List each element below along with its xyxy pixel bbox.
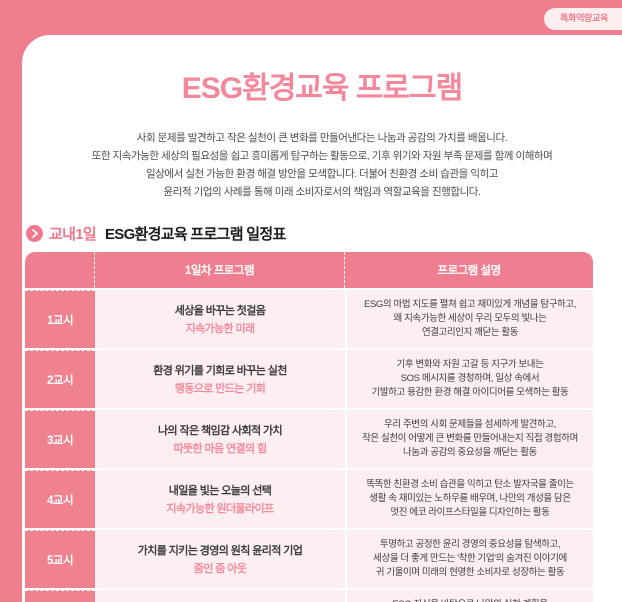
table-row: 2교시 환경 위기를 기회로 바꾸는 실천 행동으로 만드는 기회 기후 변화와… [25,350,593,408]
program-sub-title: 줌인 줌 아웃 [194,560,247,576]
description-line: 연결고리인지 깨닫는 활동 [422,326,518,340]
description-line: 왜 지속가능한 세상이 우리 모두의 빛나는 [394,312,547,326]
table-row: 4교시 내일을 빛는 오늘의 선택 지속가능한 원더풀라이프 똑똑한 친환경 소… [25,470,593,528]
row-description: 기후 변화와 자원 고갈 등 지구가 보내는 SOS 메시지를 경청하며, 일상… [347,350,593,408]
table-row: 5교시 가치를 지키는 경영의 원칙 윤리적 기업 줌인 줌 아웃 투명하고 공… [25,530,593,588]
table-header-program: 1일차 프로그램 [95,252,345,288]
row-description: 우리 주변의 사회 문제들을 섬세하게 발견하고, 작은 실천이 어떻게 큰 변… [347,410,593,468]
description-line: 작은 실천이 어떻게 큰 변화를 만들어내는지 직접 경험하며 [362,432,578,446]
description-line: SOS 메시지를 경청하며, 일상 속에서 [401,372,539,386]
section-heading-highlight: 교내1일 [49,223,96,244]
row-program: 변화를 주도하는 나만의 성장 서사 ESG 리더 세상의 빛을 밝히다 [95,590,345,602]
program-sub-title: 따뜻한 마음 연결의 힘 [173,440,266,456]
description-line: 생활 속 재미있는 노하우를 배우며, 나만의 개성을 담은 [369,492,570,506]
chevron-right-circle-icon [26,225,43,242]
program-main-title: 세상을 바꾸는 첫걸음 [175,302,266,318]
row-description: ESG 지식을 바탕으로 나만의 실천 계획을 야심차게 세우고, 미래 사회의… [347,590,593,602]
description-line: 기발하고 용감한 환경 해결 아이디어를 모색하는 활동 [372,386,569,400]
program-main-title: 내일을 빛는 오늘의 선택 [169,482,272,498]
description-line: 귀 기울이며 미래의 현명한 소비자로 성장하는 활동 [376,566,565,580]
row-program: 내일을 빛는 오늘의 선택 지속가능한 원더풀라이프 [95,470,345,528]
badge-bar: 특화역량교육 [0,0,622,36]
table-header-row: 1일차 프로그램 프로그램 설명 [25,252,593,288]
row-program: 세상을 바꾸는 첫걸음 지속가능한 미래 [95,290,345,348]
program-main-title: 환경 위기를 기회로 바꾸는 실천 [153,362,287,378]
content-card: ESG환경교육 프로그램 사회 문제를 발견하고 작은 실천이 큰 변화를 만들… [22,35,622,602]
table-row: 6교시 변화를 주도하는 나만의 성장 서사 ESG 리더 세상의 빛을 밝히다… [25,590,593,602]
description-line: 윤리적 기업의 사례를 통해 미래 소비자로서의 책임과 역할교육을 진행합니다… [34,183,610,201]
schedule-table: 1일차 프로그램 프로그램 설명 1교시 세상을 바꾸는 첫걸음 지속가능한 미… [25,252,593,602]
table-header-time [25,252,95,288]
row-period: 4교시 [25,470,95,528]
table-row: 3교시 나의 작은 책임감 사회적 가치 따뜻한 마음 연결의 힘 우리 주변의… [25,410,593,468]
row-period: 2교시 [25,350,95,408]
category-badge: 특화역량교육 [544,8,622,30]
description-line: 멋진 에코 라이프스타일을 디자인하는 활동 [390,506,549,520]
row-period: 3교시 [25,410,95,468]
program-main-title: 나의 작은 책임감 사회적 가치 [158,422,282,438]
description-line: ESG 지식을 바탕으로 나만의 실천 계획을 [392,598,547,602]
table-row: 1교시 세상을 바꾸는 첫걸음 지속가능한 미래 ESG의 마법 지도를 펼쳐 … [25,290,593,348]
program-sub-title: 행동으로 만드는 기회 [175,380,266,396]
description-line: 일상에서 실천 가능한 환경 해결 방안을 모색합니다. 더불어 친환경 소비 … [34,165,610,183]
table-header-description: 프로그램 설명 [345,252,593,288]
row-period: 5교시 [25,530,95,588]
description-line: 또한 지속가능한 세상의 필요성을 쉽고 흥미롭게 탐구하는 활동으로, 기후 … [34,147,610,165]
row-period: 1교시 [25,290,95,348]
row-description: 똑똑한 친환경 소비 습관을 익히고 탄소 발자국을 줄이는 생활 속 재미있는… [347,470,593,528]
program-sub-title: 지속가능한 원더풀라이프 [166,500,273,516]
description-line: 기후 변화와 자원 고갈 등 지구가 보내는 [397,358,544,372]
page-title: ESG환경교육 프로그램 [22,35,622,107]
description-line: 똑똑한 친환경 소비 습관을 익히고 탄소 발자국을 줄이는 [366,478,574,492]
row-period: 6교시 [25,590,95,602]
description-line: 투명하고 공정한 윤리 경영의 중요성을 탐색하고, [380,538,560,552]
program-sub-title: 지속가능한 미래 [185,320,254,336]
program-main-title: 가치를 지키는 경영의 원칙 윤리적 기업 [138,542,303,558]
program-description: 사회 문제를 발견하고 작은 실천이 큰 변화를 만들어낸다는 나눔과 공감의 … [22,129,622,201]
row-description: 투명하고 공정한 윤리 경영의 중요성을 탐색하고, 세상을 더 좋게 만드는 … [347,530,593,588]
row-program: 환경 위기를 기회로 바꾸는 실천 행동으로 만드는 기회 [95,350,345,408]
description-line: 사회 문제를 발견하고 작은 실천이 큰 변화를 만들어낸다는 나눔과 공감의 … [34,129,610,147]
section-heading-title: ESG환경교육 프로그램 일정표 [105,223,286,244]
description-line: 우리 주변의 사회 문제들을 섬세하게 발견하고, [384,418,556,432]
description-line: 세상을 더 좋게 만드는 '착한 기업'의 숨겨진 이야기에 [373,552,567,566]
row-description: ESG의 마법 지도를 펼쳐 쉽고 재미있게 개념을 탐구하고, 왜 지속가능한… [347,290,593,348]
schedule-section-heading: 교내1일 ESG환경교육 프로그램 일정표 [26,223,622,244]
row-program: 가치를 지키는 경영의 원칙 윤리적 기업 줌인 줌 아웃 [95,530,345,588]
description-line: 나눔과 공감의 중요성을 깨닫는 활동 [403,446,537,460]
row-program: 나의 작은 책임감 사회적 가치 따뜻한 마음 연결의 힘 [95,410,345,468]
description-line: ESG의 마법 지도를 펼쳐 쉽고 재미있게 개념을 탐구하고, [364,298,576,312]
